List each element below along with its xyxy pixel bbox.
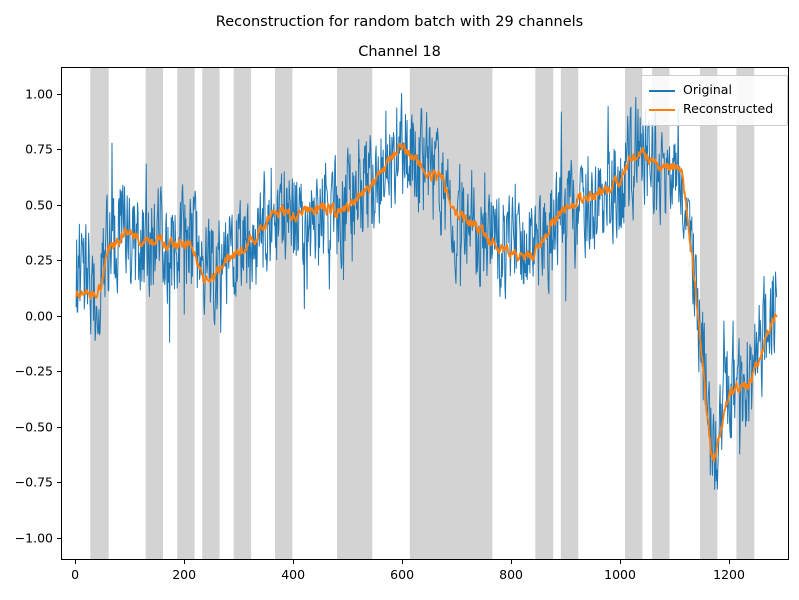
x-tick-label: 1200 [699,567,759,582]
masked-span [146,68,163,559]
x-tick-mark [293,560,294,564]
masked-span [535,68,553,559]
y-tick-mark [57,427,61,428]
y-tick-mark [57,538,61,539]
x-tick-label: 400 [263,567,323,582]
x-tick-mark [729,560,730,564]
axes-title: Channel 18 [0,44,799,60]
y-tick-label: 1.00 [1,86,53,101]
y-tick-mark [57,149,61,150]
legend-label-original: Original [683,84,732,97]
y-tick-label: 0.50 [1,197,53,212]
y-tick-mark [57,316,61,317]
legend-label-reconstructed: Reconstructed [683,103,773,116]
masked-span [275,68,292,559]
masked-span [234,68,251,559]
y-tick-label: 0.25 [1,253,53,268]
x-tick-label: 0 [45,567,105,582]
y-tick-label: −0.25 [1,364,53,379]
masked-span [337,68,372,559]
figure-suptitle: Reconstruction for random batch with 29 … [0,14,799,30]
x-tick-label: 1000 [590,567,650,582]
plot-area [61,67,789,560]
y-tick-label: −1.00 [1,530,53,545]
legend-item-original[interactable]: Original [649,81,780,100]
masked-span [177,68,194,559]
figure: Reconstruction for random batch with 29 … [0,0,799,600]
x-tick-label: 600 [372,567,432,582]
y-tick-label: 0.75 [1,142,53,157]
y-tick-label: −0.50 [1,419,53,434]
legend-swatch-original [649,90,675,92]
x-tick-mark [511,560,512,564]
masked-span [561,68,578,559]
y-tick-mark [57,94,61,95]
x-tick-mark [75,560,76,564]
x-tick-label: 800 [481,567,541,582]
x-tick-mark [184,560,185,564]
y-tick-mark [57,260,61,261]
legend-item-reconstructed[interactable]: Reconstructed [649,100,780,119]
plot-canvas [62,68,788,559]
legend[interactable]: Original Reconstructed [641,75,788,126]
y-tick-mark [57,371,61,372]
masked-span [736,68,754,559]
x-tick-mark [402,560,403,564]
y-tick-mark [57,205,61,206]
x-tick-label: 200 [154,567,214,582]
y-axis-tick-labels: 1.000.750.500.250.00−0.25−0.50−0.75−1.00 [0,0,53,600]
y-tick-label: −0.75 [1,475,53,490]
x-tick-mark [620,560,621,564]
y-tick-label: 0.00 [1,308,53,323]
y-tick-mark [57,482,61,483]
legend-swatch-reconstructed [649,109,675,111]
